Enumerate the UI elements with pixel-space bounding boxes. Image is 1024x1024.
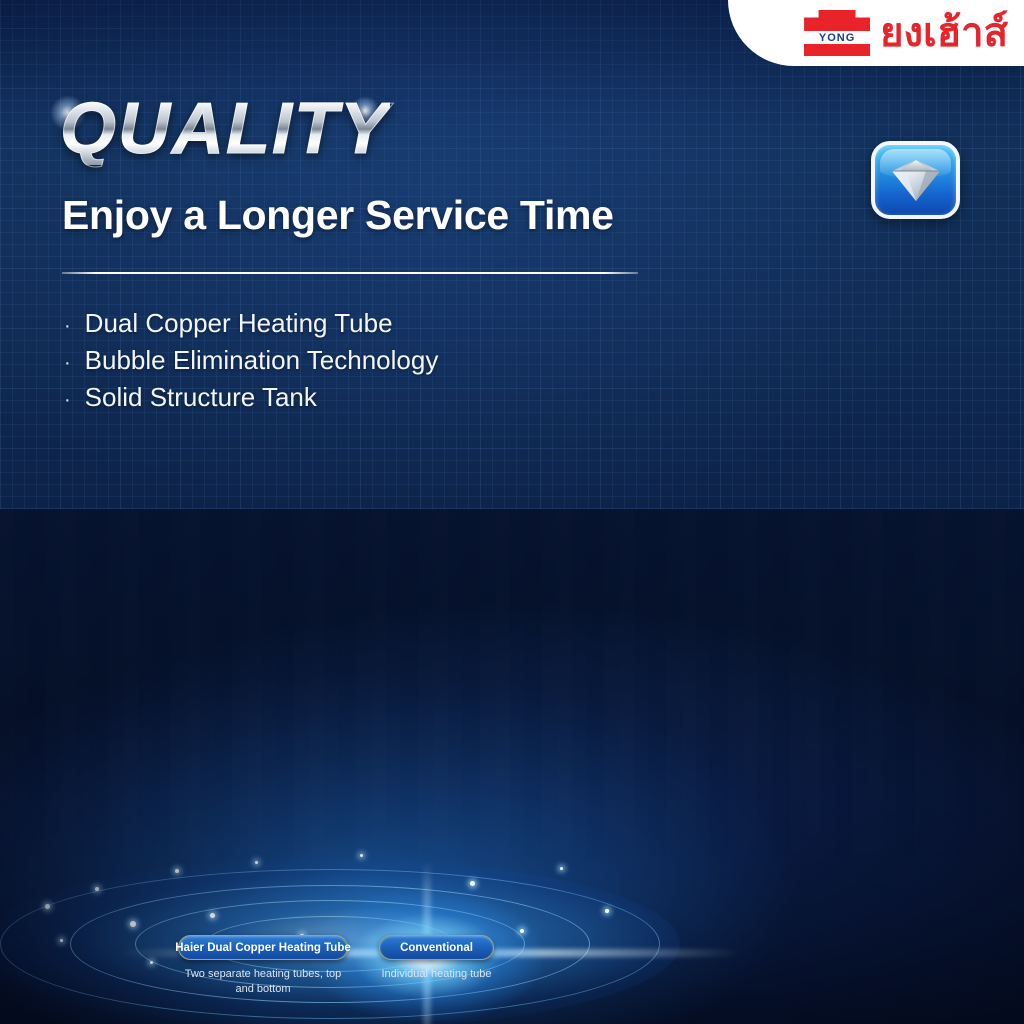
bottom-darkening-overlay (0, 509, 1024, 1024)
bullet-icon: · (64, 390, 71, 410)
list-item: · Solid Structure Tank (64, 379, 438, 416)
feature-label: Dual Copper Heating Tube (85, 305, 393, 342)
quality-diamond-badge (871, 141, 960, 219)
logo-base-shape (804, 44, 870, 56)
feature-label: Solid Structure Tank (85, 379, 317, 416)
hero-headline: QUALITY (60, 93, 390, 165)
product-showcase-section: KO Dual Copper Heating Tube Faster Heati… (0, 509, 1024, 1024)
hero-subtitle: Enjoy a Longer Service Time (62, 192, 614, 239)
bullet-icon: · (64, 353, 71, 373)
bullet-icon: · (64, 316, 71, 336)
label-conventional: Conventional (379, 935, 494, 960)
caption-conventional: Individual heating tube (369, 967, 504, 982)
feature-label: Bubble Elimination Technology (85, 342, 439, 379)
logo-wordmark: YONG (819, 33, 855, 44)
logo-roof-shape (804, 10, 870, 32)
yong-house-logo-icon: YONG (804, 10, 870, 56)
hero-section: YONG ยงเฮ้าส์ QUALITY Enjoy a Longer Ser… (0, 0, 1024, 509)
brand-logo-panel: YONG ยงเฮ้าส์ (728, 0, 1024, 66)
promo-banner: YONG ยงเฮ้าส์ QUALITY Enjoy a Longer Ser… (0, 0, 1024, 1024)
hero-divider (62, 272, 638, 274)
feature-list: · Dual Copper Heating Tube · Bubble Elim… (64, 305, 438, 416)
brand-thai-name: ยงเฮ้าส์ (880, 13, 1008, 53)
logo-name-band: YONG (804, 31, 870, 45)
list-item: · Dual Copper Heating Tube (64, 305, 438, 342)
hero-vignette-overlay (0, 0, 1024, 509)
label-haier-dual-copper-heating-tube: Haier Dual Copper Heating Tube (178, 935, 348, 960)
list-item: · Bubble Elimination Technology (64, 342, 438, 379)
diamond-icon (890, 158, 942, 202)
caption-haier: Two separate heating tubes, top and bott… (178, 967, 348, 997)
